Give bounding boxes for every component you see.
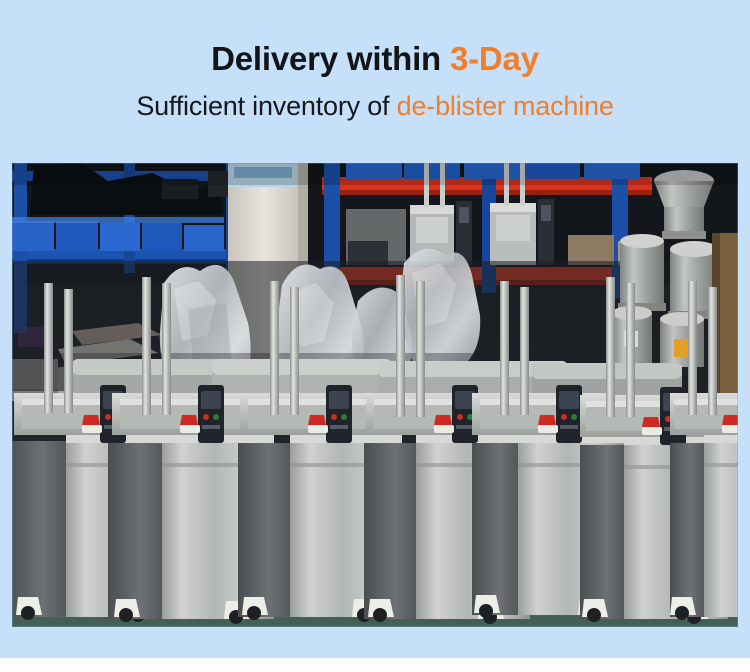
headline-lead-text: Delivery within (211, 40, 450, 77)
subheadline-accent-text: de-blister machine (397, 91, 614, 121)
blue-storage-bins (12, 217, 224, 251)
promo-banner: Delivery within 3-Day Sufficient invento… (0, 0, 750, 672)
headline-block: Delivery within 3-Day Sufficient invento… (0, 0, 750, 163)
page-title: Delivery within 3-Day (0, 0, 750, 80)
warehouse-photo-illustration (12, 163, 738, 627)
warehouse-photo (12, 163, 738, 627)
headline-accent-text: 3-Day (450, 40, 539, 77)
bottom-white-strip (0, 658, 750, 672)
page-subtitle: Sufficient inventory of de-blister machi… (0, 80, 750, 123)
subheadline-lead-text: Sufficient inventory of (136, 91, 396, 121)
